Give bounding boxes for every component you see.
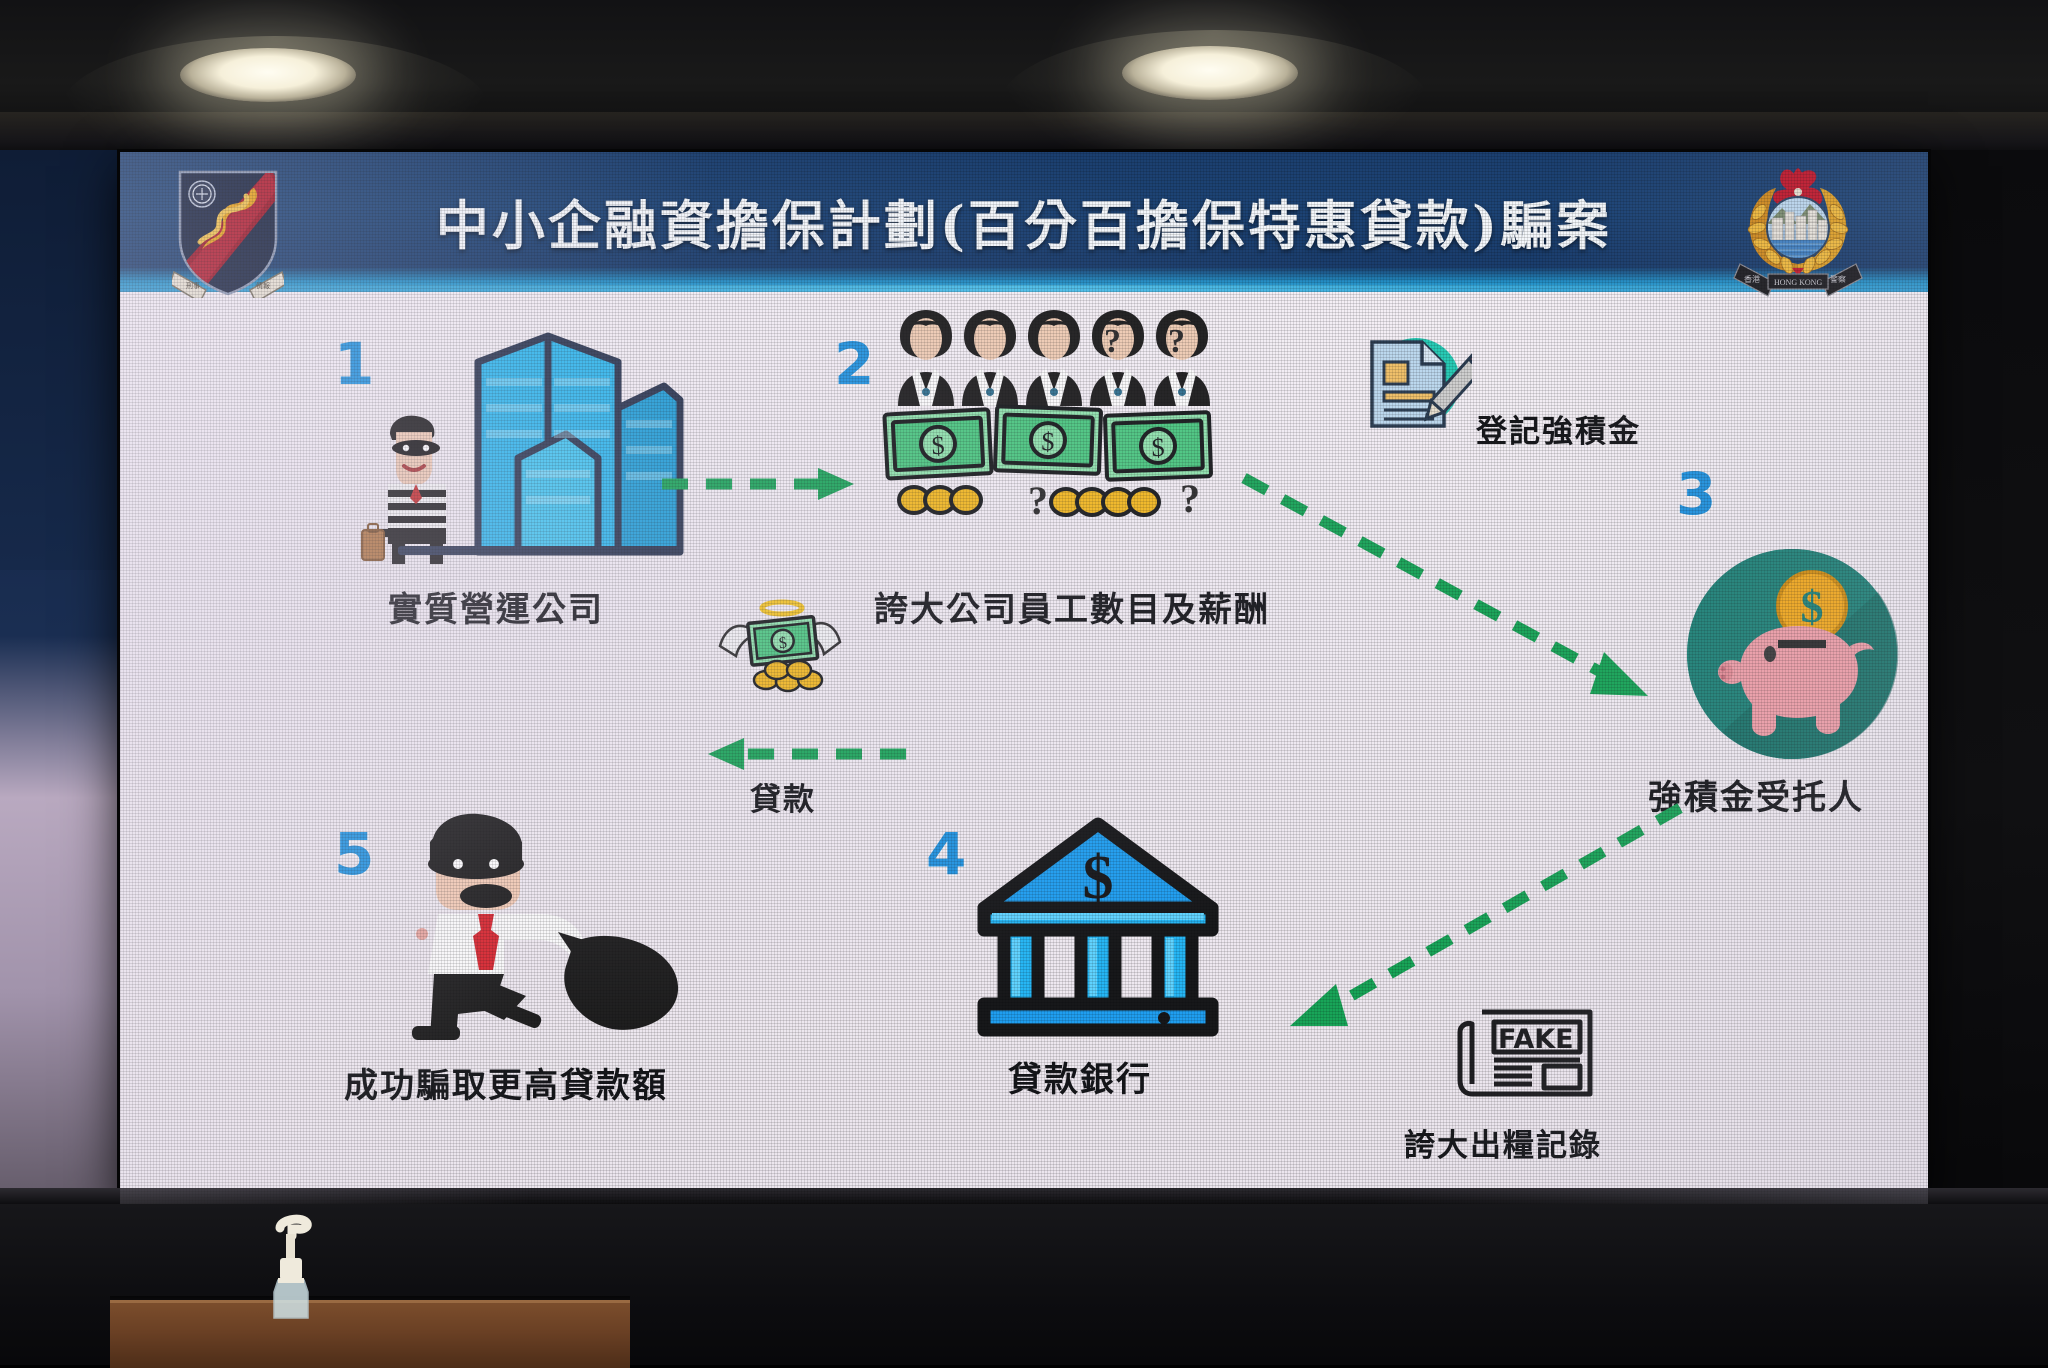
- ceiling-beam: [0, 112, 2048, 154]
- banknotes-and-coins-icon: $ $ $: [880, 402, 1220, 552]
- ceiling-downlight-right: [1122, 46, 1298, 100]
- running-thief-with-money-bag-icon: [386, 802, 686, 1052]
- right-wall: [1928, 150, 2048, 1230]
- svg-text:?: ?: [1104, 323, 1121, 360]
- document-with-pencil-icon: [1352, 324, 1472, 444]
- svg-text:刑事: 刑事: [186, 281, 200, 290]
- flying-money-icon: $: [716, 594, 866, 714]
- arrow-step1-to-step2: [658, 464, 868, 504]
- hand-sanitizer-bottle: [258, 1212, 322, 1322]
- slide-header: 中小企融資擔保計劃(百分百擔保特惠貸款)騙案: [120, 152, 1928, 292]
- annotation-label-fake-payroll: 誇大出糧記錄: [1404, 1120, 1602, 1165]
- step-caption-4: 貸款銀行: [1008, 1052, 1152, 1101]
- svg-text:警察: 警察: [1830, 274, 1846, 284]
- arrow-step4-to-step5: [668, 734, 910, 774]
- bank-building-icon: $: [968, 812, 1228, 1042]
- annotation-label-loan: 貸款: [750, 774, 816, 819]
- ceiling-downlight-left: [180, 48, 356, 102]
- annotation-label-register-mpf: 登記強積金: [1476, 406, 1641, 451]
- step-number-3: 3: [1676, 460, 1716, 528]
- step-number-5: 5: [334, 820, 374, 888]
- press-conference-room: 中小企融資擔保計劃(百分百擔保特惠貸款)騙案: [0, 0, 2048, 1365]
- wooden-podium: [110, 1300, 630, 1368]
- svg-text:$: $: [1041, 427, 1055, 456]
- step-caption-2: 誇大公司員工數目及薪酬: [874, 582, 1270, 631]
- svg-text:香港: 香港: [1744, 274, 1760, 284]
- slide: 中小企融資擔保計劃(百分百擔保特惠貸款)騙案: [120, 152, 1928, 1204]
- svg-text:$: $: [931, 431, 945, 461]
- svg-text:HONG KONG: HONG KONG: [1774, 278, 1822, 287]
- fake-label: FAKE!: [1498, 1024, 1586, 1055]
- led-presentation-screen: 中小企融資擔保計劃(百分百擔保特惠貸款)騙案: [120, 152, 1928, 1204]
- piggy-bank-icon: $: [1682, 544, 1902, 764]
- step-number-1: 1: [334, 330, 374, 398]
- fake-newspaper-icon: FAKE!: [1450, 998, 1600, 1108]
- svg-text:$: $: [1801, 581, 1824, 632]
- step-number-2: 2: [834, 330, 874, 398]
- step-number-4: 4: [926, 820, 966, 888]
- svg-text:情報: 情報: [256, 281, 270, 290]
- hong-kong-police-commercial-crime-bureau-crest: 刑事 情報: [172, 166, 284, 298]
- arrow-step2-to-step3: [1238, 458, 1678, 728]
- page-title: 中小企融資擔保計劃(百分百擔保特惠貸款)騙案: [436, 184, 1612, 260]
- svg-text:?: ?: [1180, 476, 1200, 521]
- svg-text:?: ?: [1168, 323, 1185, 360]
- employees-group-icon: ? ?: [888, 306, 1210, 406]
- office-buildings-icon: [370, 320, 688, 580]
- slide-diagram: 1: [120, 292, 1928, 1204]
- svg-text:?: ?: [1028, 478, 1048, 523]
- svg-text:$: $: [1083, 844, 1114, 912]
- left-wall-upper: [0, 150, 120, 570]
- hong-kong-police-force-crest: 香港 警察 HONG KONG: [1732, 164, 1864, 300]
- step-caption-5: 成功騙取更高貸款額: [344, 1058, 668, 1107]
- header-underline: [120, 285, 1928, 292]
- step-caption-1: 實質營運公司: [388, 582, 604, 631]
- svg-text:$: $: [1151, 433, 1165, 462]
